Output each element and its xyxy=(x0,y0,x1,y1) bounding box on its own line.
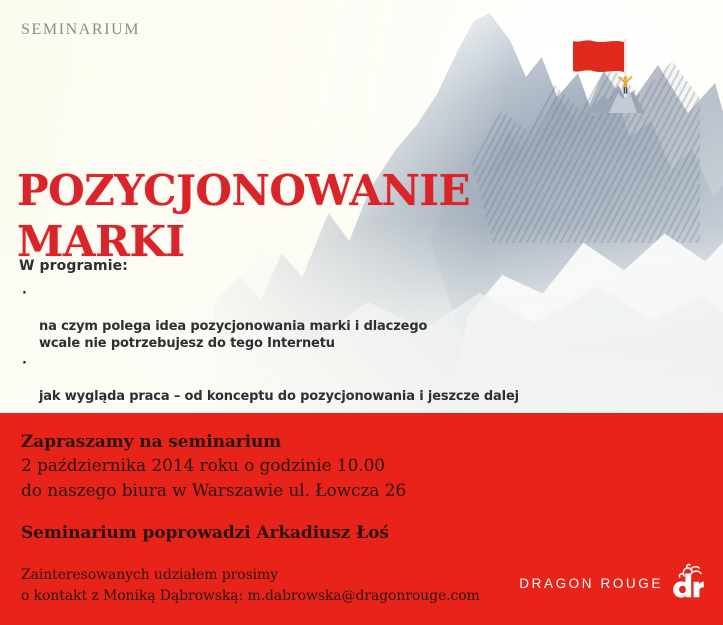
invitation-heading: Zapraszamy na seminarium xyxy=(21,430,406,454)
list-item: · jak wygląda praca – od konceptu do poz… xyxy=(19,356,519,406)
programme-heading: W programie: xyxy=(19,258,519,274)
list-item: · na czym polega idea pozycjonowania mar… xyxy=(19,286,519,352)
poster: SEMINARIUM POZYCJONOWANIE MARKI W progra… xyxy=(0,0,723,625)
dragon-head-monogram-icon xyxy=(671,563,705,603)
contact-line-2: o kontakt z Moniką Dąbrowską: m.dabrowsk… xyxy=(21,586,480,607)
logo-wordmark: DRAGON ROUGE xyxy=(519,576,663,591)
page-title: POZYCJONOWANIE MARKI xyxy=(17,165,470,267)
dragon-rouge-logo: DRAGON ROUGE xyxy=(519,563,705,603)
contact-block: Zainteresowanych udziałem prosimy o kont… xyxy=(21,565,480,607)
programme-list: · na czym polega idea pozycjonowania mar… xyxy=(19,286,519,413)
contact-line-1: Zainteresowanych udziałem prosimy xyxy=(21,565,480,586)
kicker-label: SEMINARIUM xyxy=(21,21,140,39)
list-item-label: na czym polega idea pozycjonowania marki… xyxy=(39,319,427,351)
footer-band: Zapraszamy na seminarium 2 października … xyxy=(0,413,723,625)
invitation-block: Zapraszamy na seminarium 2 października … xyxy=(21,430,406,504)
invitation-date: 2 października 2014 roku o godzinie 10.0… xyxy=(21,454,406,479)
invitation-place: do naszego biura w Warszawie ul. Łowcza … xyxy=(21,479,406,504)
mountain-scene: SEMINARIUM POZYCJONOWANIE MARKI W progra… xyxy=(0,0,723,413)
bullet-icon: · xyxy=(22,410,27,414)
programme-section: W programie: · na czym polega idea pozyc… xyxy=(19,258,519,413)
summit-flag-icon xyxy=(563,33,673,113)
speaker-line: Seminarium poprowadzi Arkadiusz Łoś xyxy=(21,521,389,545)
bullet-icon: · xyxy=(22,356,27,373)
list-item: · czym różni się „claim” od esencji mark… xyxy=(19,410,519,414)
bullet-icon: · xyxy=(22,286,27,303)
headline-line-1: POZYCJONOWANIE xyxy=(17,165,470,216)
list-item-label: jak wygląda praca – od konceptu do pozyc… xyxy=(39,389,519,404)
